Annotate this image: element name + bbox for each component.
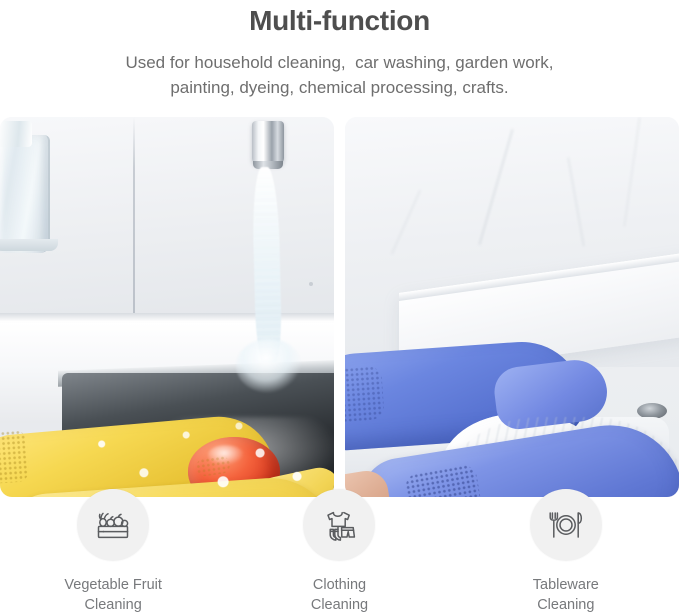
glass-bottle [0,135,50,253]
wall-speck [309,282,313,286]
page-title: Multi-function [0,4,679,38]
feature-label: Tableware Cleaning [533,575,599,615]
feature-label: Vegetable Fruit Cleaning [64,575,162,615]
kitchen-sink-photo [0,117,334,497]
photo-panels [0,117,679,497]
water-droplets [70,417,334,497]
bottle-neck [0,121,32,147]
feature-icon-circle [530,489,602,561]
laundry-illustration [345,117,679,497]
feature-item-clothing-cleaning: Clothing Cleaning [226,489,452,615]
feature-item-tableware-cleaning: Tableware Cleaning [453,489,679,615]
kitchen-sink-illustration [0,117,334,497]
glove-grip-texture [345,365,385,422]
feature-item-vegetable-fruit-cleaning: Vegetable Fruit Cleaning [0,489,226,615]
glove-grip-texture [0,429,30,484]
tableware-icon [545,505,587,545]
feature-label: Clothing Cleaning [311,575,368,615]
header: Multi-function Used for household cleani… [0,0,679,100]
water-splash [236,339,302,393]
bottle-base [0,239,58,251]
laundry-photo [345,117,679,497]
page-subtitle: Used for household cleaning, car washing… [60,50,620,100]
vegetable-crate-icon [92,505,134,545]
faucet [252,121,284,165]
clothing-icon [318,505,360,545]
feature-icon-circle [303,489,375,561]
backsplash-seam [133,117,135,322]
feature-list: Vegetable Fruit Cleaning [0,489,679,615]
feature-icon-circle [77,489,149,561]
